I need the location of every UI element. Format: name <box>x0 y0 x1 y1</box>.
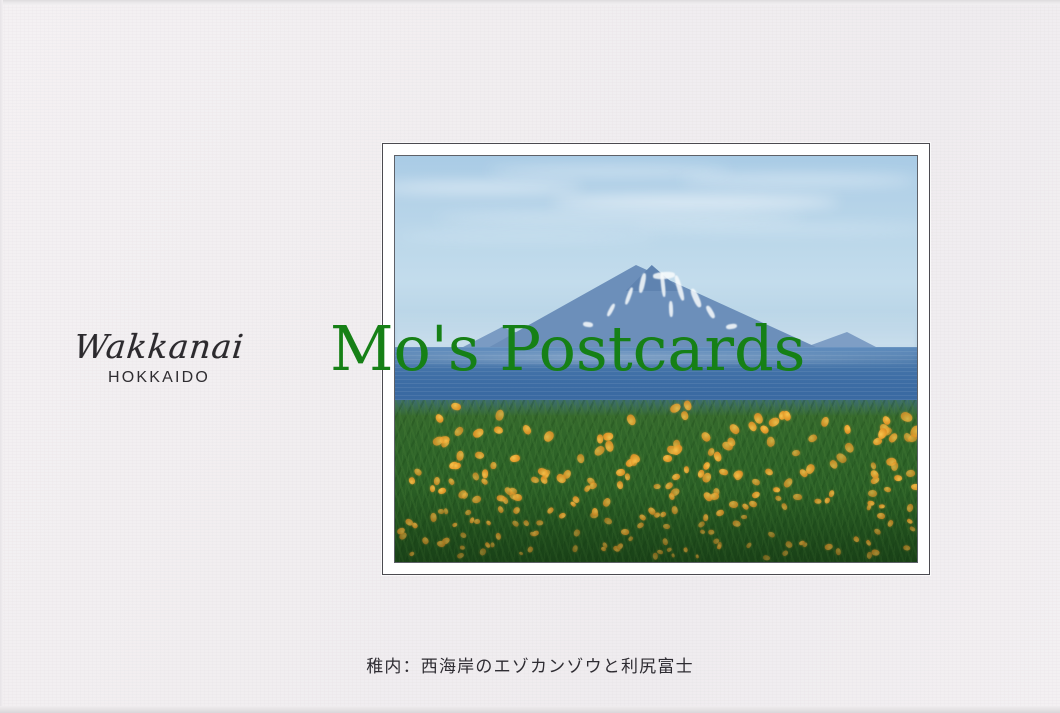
cloud <box>437 213 802 223</box>
postcard-title-block: Wakkanai HOKKAIDO <box>44 330 274 387</box>
region-name-label: HOKKAIDO <box>44 369 274 387</box>
flower-meadow-layer <box>395 400 917 562</box>
cloud <box>489 167 729 175</box>
daylily-blossom <box>434 477 440 485</box>
cloud <box>630 225 918 233</box>
cloud <box>552 196 839 207</box>
daylily-blossom <box>631 458 638 467</box>
postcard-scan: Wakkanai HOKKAIDO <box>0 0 1060 713</box>
cloud <box>395 232 656 240</box>
cloud <box>394 183 583 193</box>
scan-edge-bottom <box>0 706 1060 713</box>
photo-caption: 稚内：西海岸のエゾカンゾウと利尻富士 <box>0 652 1060 677</box>
place-name-script: Wakkanai <box>42 330 275 363</box>
cloud <box>682 175 917 185</box>
meadow-foreground-shade <box>395 489 917 562</box>
postcard-photograph <box>394 155 918 563</box>
daylily-blossom <box>766 436 775 447</box>
daylily-blossom <box>663 455 672 462</box>
photo-frame <box>382 143 930 575</box>
snow-patch <box>669 301 674 317</box>
scan-edge-top <box>0 0 1060 5</box>
scan-edge-left <box>0 0 3 713</box>
daylily-blossom <box>906 469 916 477</box>
